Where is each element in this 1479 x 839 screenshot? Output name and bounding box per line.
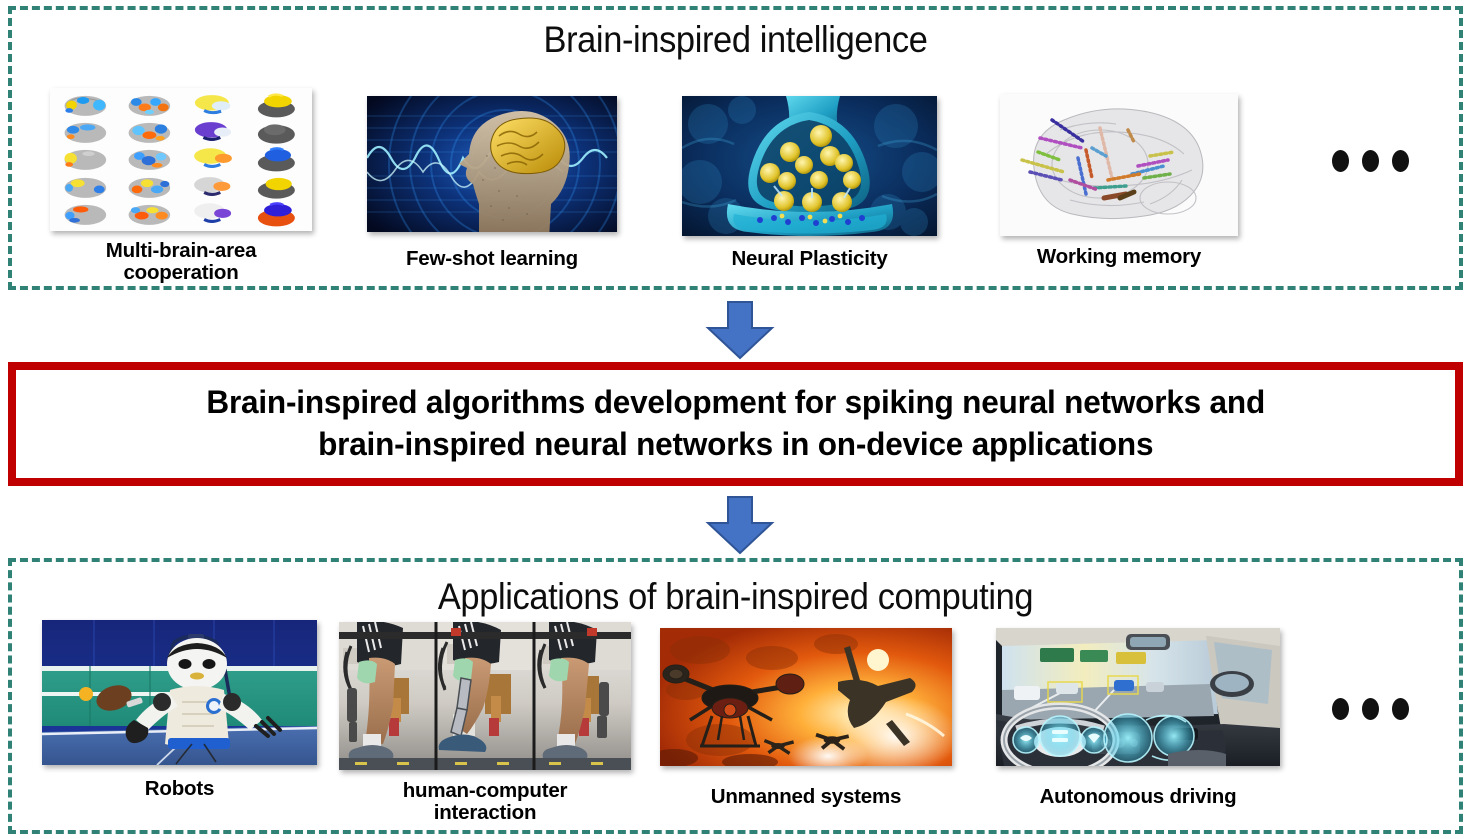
down-arrow-bottom	[703, 495, 777, 555]
brain-inspired-intelligence-panel: Brain-inspired intelligence	[8, 6, 1463, 290]
top-item-label-1: Few-shot learning	[337, 248, 647, 270]
autonomous-driving-image	[996, 628, 1280, 766]
central-statement-line-1: Brain-inspired algorithms development fo…	[206, 382, 1265, 424]
top-item-label-0: Multi-brain-areacooperation	[20, 240, 342, 284]
bottom-item-label-2: Unmanned systems	[630, 786, 982, 808]
page-title-bottom: Applications of brain-inspired computing	[63, 576, 1409, 618]
bottom-section-ellipsis	[1332, 698, 1409, 720]
bottom-item-label-0: Robots	[12, 778, 347, 800]
page-title-top: Brain-inspired intelligence	[63, 19, 1409, 61]
top-item-label-2: Neural Plasticity	[652, 248, 967, 270]
top-item-label-3: Working memory	[970, 246, 1268, 268]
brain-surface-grid-icon	[50, 88, 312, 231]
down-arrow-top	[703, 300, 777, 360]
robots-image	[42, 620, 317, 765]
top-section-ellipsis	[1332, 150, 1409, 172]
central-statement-text: Brain-inspired algorithms development fo…	[187, 382, 1284, 465]
working-memory-image	[1000, 94, 1238, 236]
neural-plasticity-image	[682, 96, 937, 236]
central-statement-box: Brain-inspired algorithms development fo…	[8, 362, 1463, 486]
top-items-row: Multi-brain-areacooperation	[12, 88, 1459, 288]
unmanned-systems-image	[660, 628, 952, 766]
human-computer-interaction-image	[339, 622, 631, 770]
bottom-items-row: Robots	[12, 620, 1459, 835]
central-statement-line-2: brain-inspired neural networks in on-dev…	[206, 424, 1265, 466]
applications-panel: Applications of brain-inspired computing	[8, 558, 1463, 834]
bottom-item-label-3: Autonomous driving	[966, 786, 1310, 808]
few-shot-learning-image	[367, 96, 617, 232]
bottom-item-label-1: human-computerinteraction	[309, 780, 661, 824]
multi-brain-area-cooperation-image	[50, 88, 312, 231]
